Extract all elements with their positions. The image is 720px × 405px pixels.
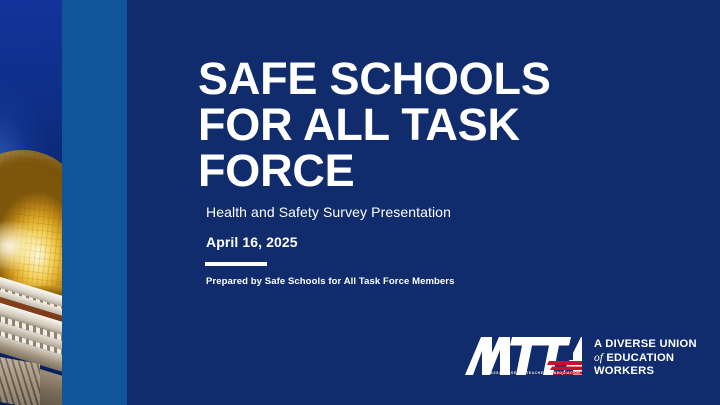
slide-date: April 16, 2025 xyxy=(206,234,298,250)
mta-tagline: A DIVERSE UNION of EDUCATION WORKERS xyxy=(594,338,714,379)
mta-org-name: MASSACHUSETTS TEACHERS ASSOCIATION xyxy=(487,371,579,375)
presentation-slide: SAFE SCHOOLS FOR ALL TASK FORCE Health a… xyxy=(0,0,720,405)
tagline-line-3: WORKERS xyxy=(594,365,654,377)
title-divider-rule xyxy=(205,262,267,266)
slide-subtitle: Health and Safety Survey Presentation xyxy=(206,204,451,220)
slide-title: SAFE SCHOOLS FOR ALL TASK FORCE xyxy=(198,56,628,194)
tagline-line-2: EDUCATION xyxy=(606,352,674,364)
mta-logo-lockup: MASSACHUSETTS TEACHERS ASSOCIATION A DIV… xyxy=(464,336,714,388)
tagline-line-1: A DIVERSE UNION xyxy=(594,338,697,350)
tagline-of: of xyxy=(594,352,603,364)
prepared-by-credit: Prepared by Safe Schools for All Task Fo… xyxy=(206,275,466,288)
mta-wordmark-icon xyxy=(464,336,582,384)
